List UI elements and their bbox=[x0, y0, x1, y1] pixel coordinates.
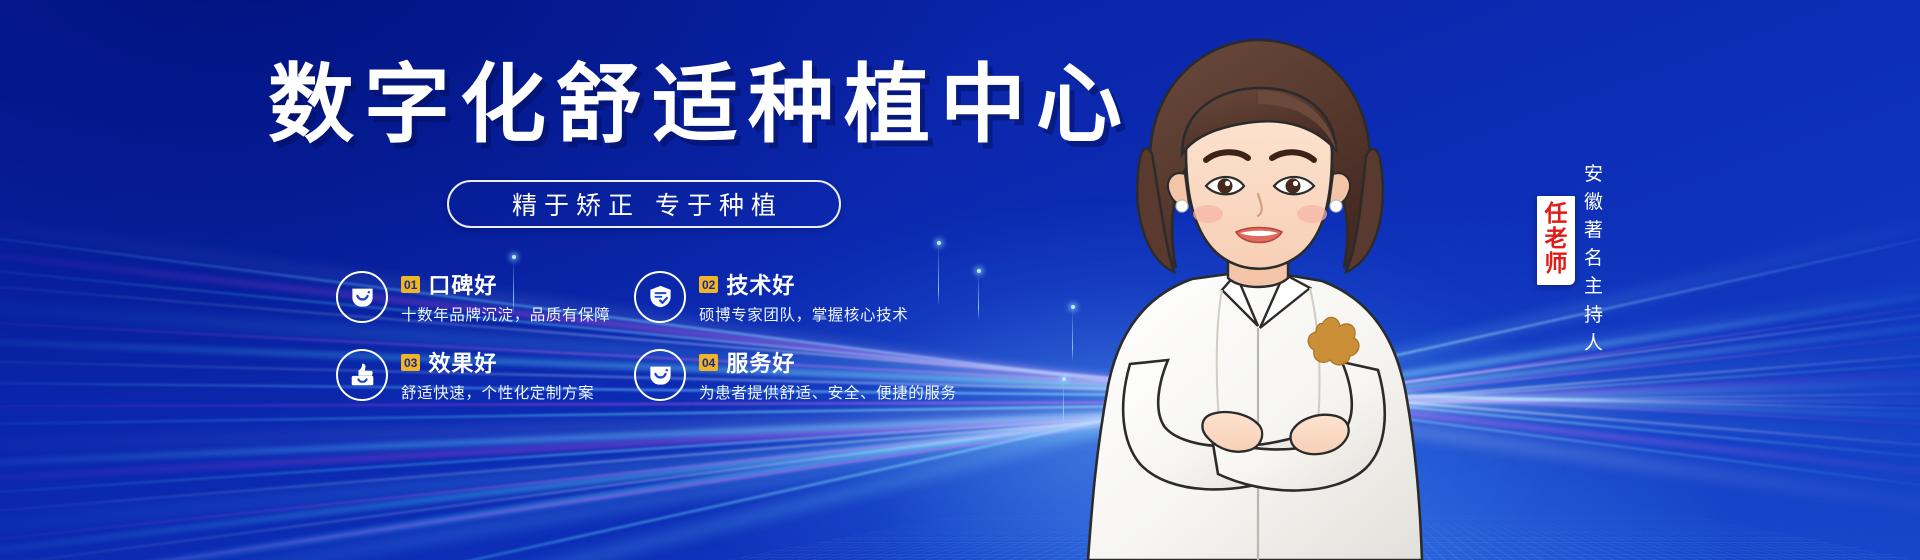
feature-item-4[interactable]: 04 服务好 为患者提供舒适、安全、便捷的服务 bbox=[634, 346, 957, 403]
promo-banner: 数字化舒适种植中心 精于矫正 专于种植 01 口碑好 十数年品牌沉淀，品质有保障 bbox=[0, 0, 1920, 560]
host-caption-char: 徽 bbox=[1583, 188, 1605, 216]
host-caption-char: 著 bbox=[1583, 216, 1605, 244]
feature-description: 舒适快速，个性化定制方案 bbox=[401, 381, 594, 403]
host-badge-char: 师 bbox=[1545, 252, 1568, 277]
host-badge-char: 老 bbox=[1545, 227, 1568, 252]
feature-item-1[interactable]: 01 口碑好 十数年品牌沉淀，品质有保障 bbox=[336, 268, 610, 325]
feature-number: 04 bbox=[699, 354, 718, 371]
host-caption-char: 主 bbox=[1583, 272, 1605, 300]
feature-item-2[interactable]: 02 技术好 硕博专家团队，掌握核心技术 bbox=[634, 268, 908, 325]
shield-check-icon bbox=[634, 271, 686, 323]
feature-item-3[interactable]: 03 效果好 舒适快速，个性化定制方案 bbox=[336, 346, 594, 403]
subtitle-pill: 精于矫正 专于种植 bbox=[447, 180, 841, 228]
host-caption: 安 徽 著 名 主 持 人 bbox=[1583, 160, 1605, 357]
feature-number: 02 bbox=[699, 276, 718, 293]
feature-number: 01 bbox=[401, 276, 420, 293]
feature-description: 硕博专家团队，掌握核心技术 bbox=[699, 303, 908, 325]
page-title: 数字化舒适种植中心 bbox=[268, 62, 1132, 148]
host-caption-char: 名 bbox=[1583, 244, 1605, 272]
feature-title: 技术好 bbox=[726, 268, 795, 300]
host-caption-char: 安 bbox=[1583, 160, 1605, 188]
feature-number: 03 bbox=[401, 354, 420, 371]
subtitle-text: 精于矫正 专于种植 bbox=[505, 186, 783, 222]
feature-title: 效果好 bbox=[428, 346, 497, 378]
feature-description: 十数年品牌沉淀，品质有保障 bbox=[401, 303, 610, 325]
host-badge-char: 任 bbox=[1545, 202, 1568, 227]
host-caption-char: 持 bbox=[1583, 301, 1605, 329]
host-name-badge: 任 老 师 bbox=[1537, 196, 1575, 285]
feature-title: 服务好 bbox=[726, 346, 795, 378]
smile-chat-icon bbox=[336, 271, 388, 323]
feature-description: 为患者提供舒适、安全、便捷的服务 bbox=[699, 381, 957, 403]
host-caption-char: 人 bbox=[1583, 329, 1605, 357]
smile-chat-icon bbox=[634, 349, 686, 401]
thumbs-up-icon bbox=[336, 349, 388, 401]
feature-title: 口碑好 bbox=[428, 268, 497, 300]
